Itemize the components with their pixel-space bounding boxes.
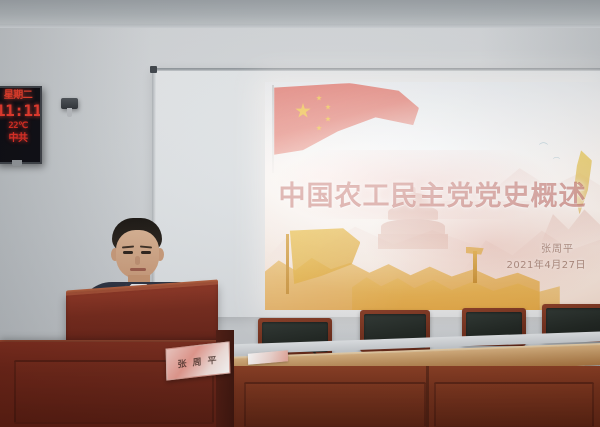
led-weekday: 星期二: [0, 88, 40, 101]
led-board-mount: [12, 160, 22, 166]
led-temperature-value: 22℃: [8, 121, 27, 131]
conference-room-photo: 星期二 11:11 22℃ 中共: [0, 0, 600, 427]
flag-pole: [272, 85, 274, 173]
ceiling: [0, 0, 600, 26]
name-card-glyph-2: 周: [192, 354, 203, 368]
flag-cloth: [274, 83, 419, 161]
slide-date: 2021年4月27日: [506, 256, 586, 271]
name-card-glyph-3: 平: [207, 352, 218, 366]
crowd-small-banner-icon: [473, 251, 477, 283]
bird-icon-b: ︵: [553, 153, 560, 160]
person-eye-left: [123, 251, 133, 254]
crowd-flag-pole: [286, 234, 289, 294]
table-panel-seam: [426, 366, 429, 427]
person-face: [116, 230, 159, 279]
led-temperature: 22℃: [0, 119, 40, 131]
person-nose: [135, 256, 140, 265]
person-eye-right: [141, 251, 151, 254]
table-panel-right: [434, 382, 594, 427]
projected-slide: ︵ ︵ 中国农工民主党党史概述 张周平 2021年4月27日: [265, 82, 600, 310]
led-message: 中共: [0, 131, 40, 144]
name-card-glyph-1: 张: [177, 356, 188, 370]
bird-icon-a: ︵: [539, 137, 548, 146]
wall-speaker-stem: [67, 108, 72, 117]
slide-title: 中国农工民主党党史概述: [265, 174, 600, 213]
screen-top-rail: [157, 68, 600, 71]
screen-corner-bracket: [150, 66, 157, 73]
slide-presenter-name: 张周平: [541, 240, 574, 255]
chinese-national-flag-icon: [274, 83, 419, 161]
led-time: 11:11: [0, 101, 40, 119]
person-mouth: [130, 268, 146, 271]
table-panel-left: [244, 382, 426, 427]
led-information-board: 星期二 11:11 22℃ 中共: [0, 86, 42, 164]
